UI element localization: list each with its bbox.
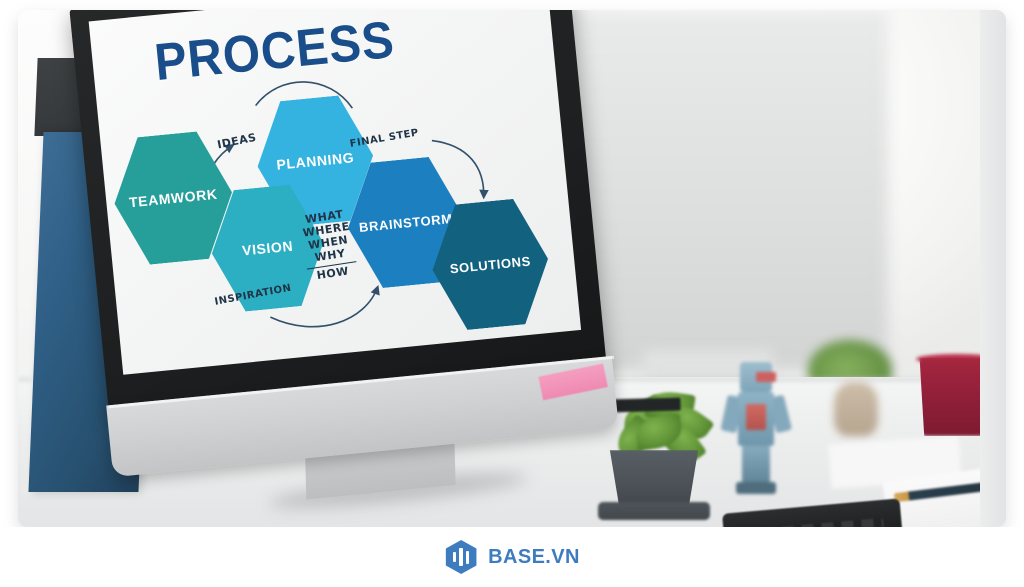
annotation-ideas: IDEAS: [216, 131, 257, 152]
right-wall: [980, 10, 1006, 527]
brand-name: BASE.VN: [488, 546, 580, 569]
hexagon-label: PLANNING: [276, 150, 355, 172]
robot-legs: [742, 446, 770, 484]
page-title: PROCESS: [152, 10, 397, 93]
hexagon-label: BRAINSTORM: [358, 211, 453, 233]
photo-card: PROCESS: [18, 10, 1006, 527]
robot-face-plate: [756, 372, 776, 382]
question-words-block: WHAT WHERE WHEN WHY HOW: [293, 207, 365, 286]
office-scene: PROCESS: [18, 10, 1006, 527]
plant-pot: [606, 450, 702, 508]
desk-object-blurred: [834, 382, 878, 436]
monitor-bezel: PROCESS: [69, 10, 606, 412]
plant-tray: [598, 502, 710, 520]
calculator-keys: [742, 518, 886, 527]
process-slide: PROCESS: [89, 10, 581, 375]
robot-head: [740, 362, 772, 392]
monitor-screen: PROCESS: [89, 10, 581, 375]
logo-bars-glyph: [453, 548, 470, 566]
desktop-monitor: PROCESS: [69, 10, 631, 467]
hexagon-label: TEAMWORK: [128, 187, 218, 210]
hexagon-bars-icon: [444, 540, 478, 574]
hexagon-label: SOLUTIONS: [449, 254, 531, 275]
toy-robot: [730, 362, 782, 494]
footer-branding: BASE.VN: [0, 527, 1024, 587]
robot-chest-panel: [746, 404, 766, 430]
robot-feet: [736, 482, 776, 494]
annotation-final-step: FINAL STEP: [349, 127, 420, 149]
hexagon-label: VISION: [242, 239, 294, 258]
